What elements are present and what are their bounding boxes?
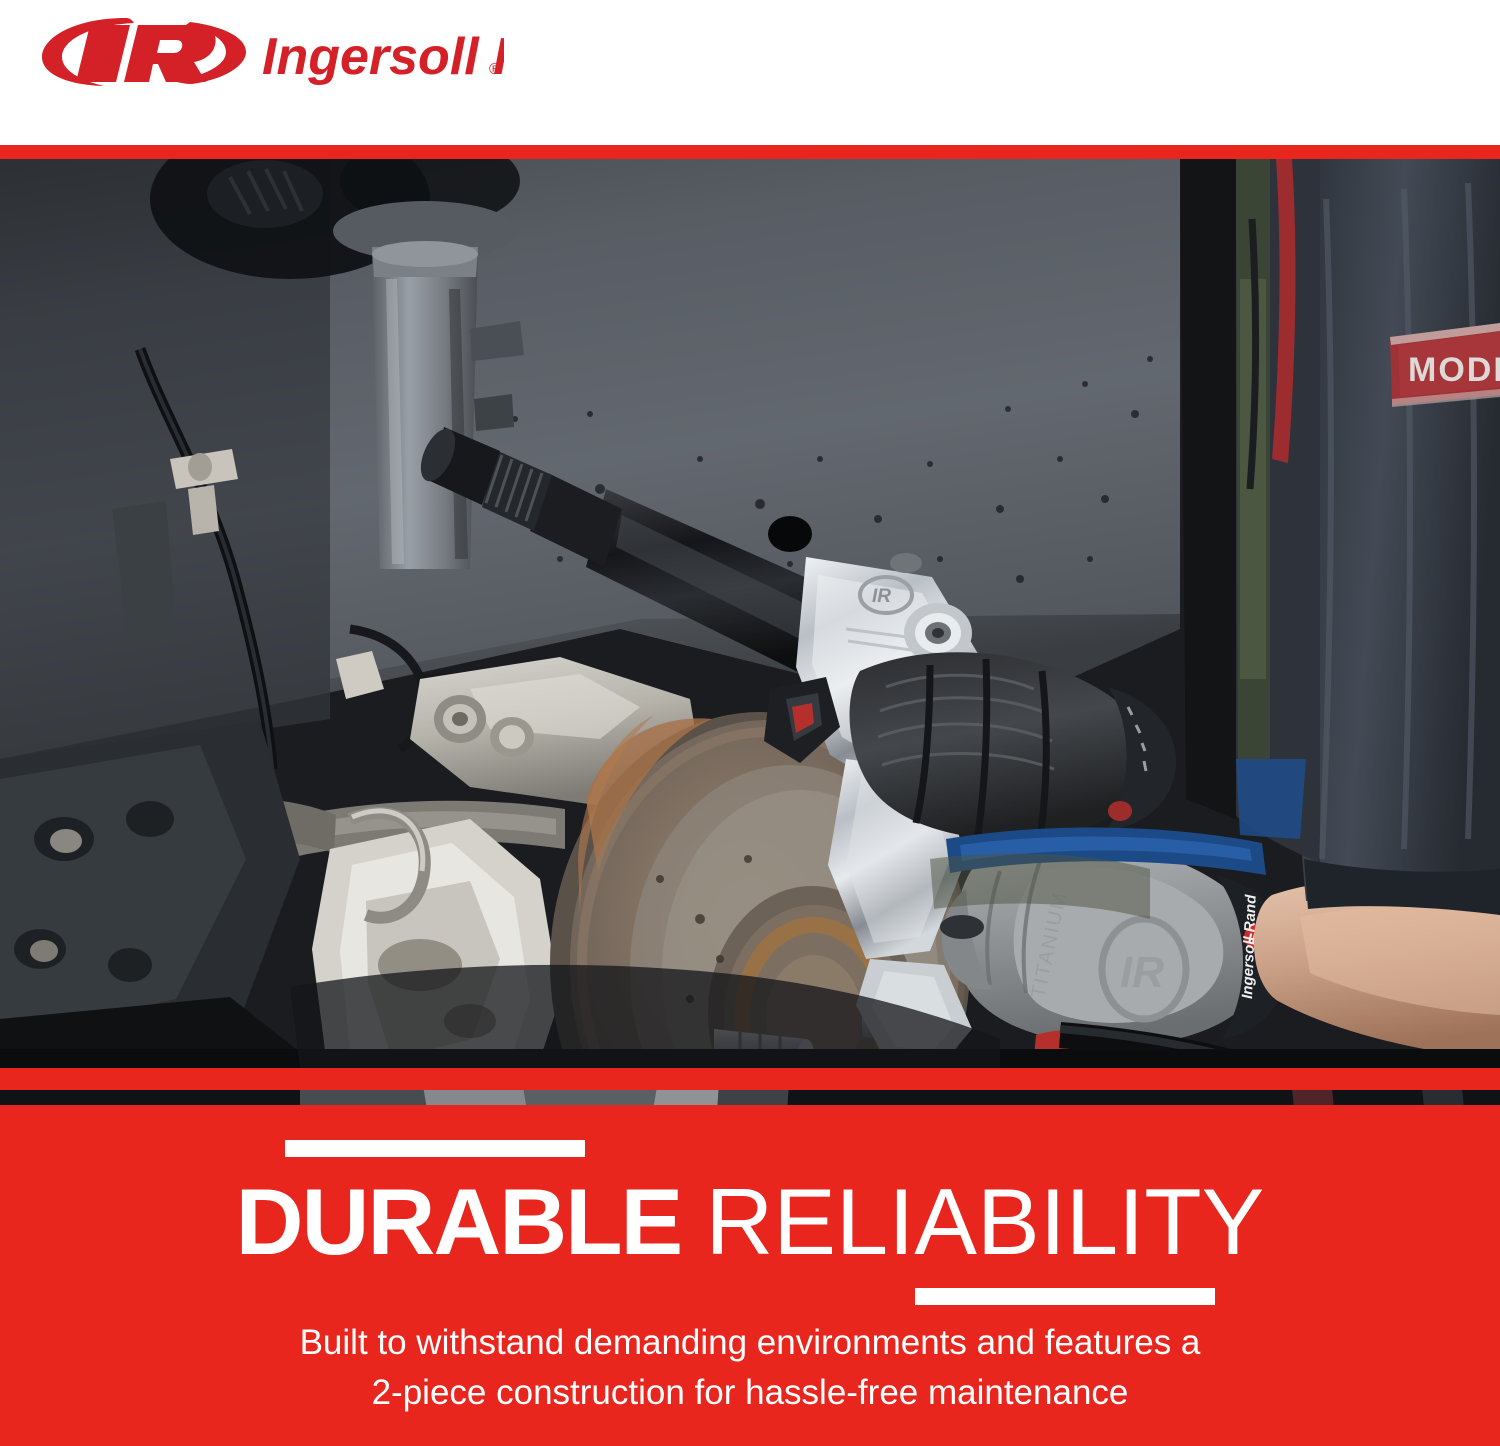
page-title: DURABLE RELIABILITY xyxy=(0,1175,1500,1269)
ingersoll-rand-logo: Ingersoll Rand ® xyxy=(34,12,504,90)
logo-monogram-ir xyxy=(76,25,216,82)
shirt-patch-text: MODE xyxy=(1408,351,1500,389)
logo-wordmark: Ingersoll Rand xyxy=(262,28,504,86)
subcopy: Built to withstand demanding environment… xyxy=(0,1318,1500,1417)
headline-light: RELIABILITY xyxy=(705,1169,1264,1274)
header-accent-rule xyxy=(0,145,1500,159)
headline-rule-bottom xyxy=(915,1288,1215,1305)
headline-rule-top xyxy=(285,1140,585,1157)
shirt-patch: MODE xyxy=(1390,323,1500,407)
mid-accent-rule xyxy=(0,1068,1500,1090)
page-header: Ingersoll Rand ® xyxy=(0,0,1500,145)
logo-registered-mark: ® xyxy=(489,61,501,78)
marketing-hero-page: Ingersoll Rand ® xyxy=(0,0,1500,1446)
subcopy-line-1: Built to withstand demanding environment… xyxy=(0,1318,1500,1368)
svg-text:IR: IR xyxy=(1120,948,1164,997)
svg-text:IR: IR xyxy=(872,586,891,607)
hero-photo-sliver xyxy=(0,1090,1500,1105)
subcopy-line-2: 2-piece construction for hassle-free mai… xyxy=(0,1368,1500,1418)
headline-strong: DURABLE xyxy=(236,1169,706,1274)
hero-photo: IR xyxy=(0,159,1500,1068)
